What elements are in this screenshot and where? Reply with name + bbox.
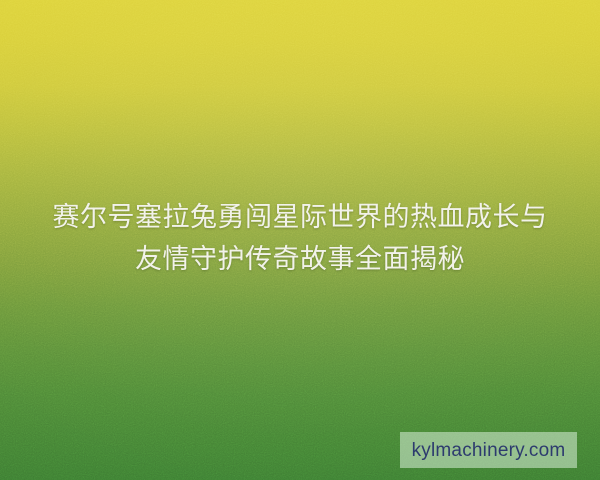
watermark-badge: kylmachinery.com: [400, 432, 577, 468]
banner-image: 赛尔号塞拉兔勇闯星际世界的热血成长与 友情守护传奇故事全面揭秘 kylmachi…: [0, 0, 600, 480]
background-gradient: [0, 0, 600, 480]
watermark-label: kylmachinery.com: [412, 441, 566, 460]
